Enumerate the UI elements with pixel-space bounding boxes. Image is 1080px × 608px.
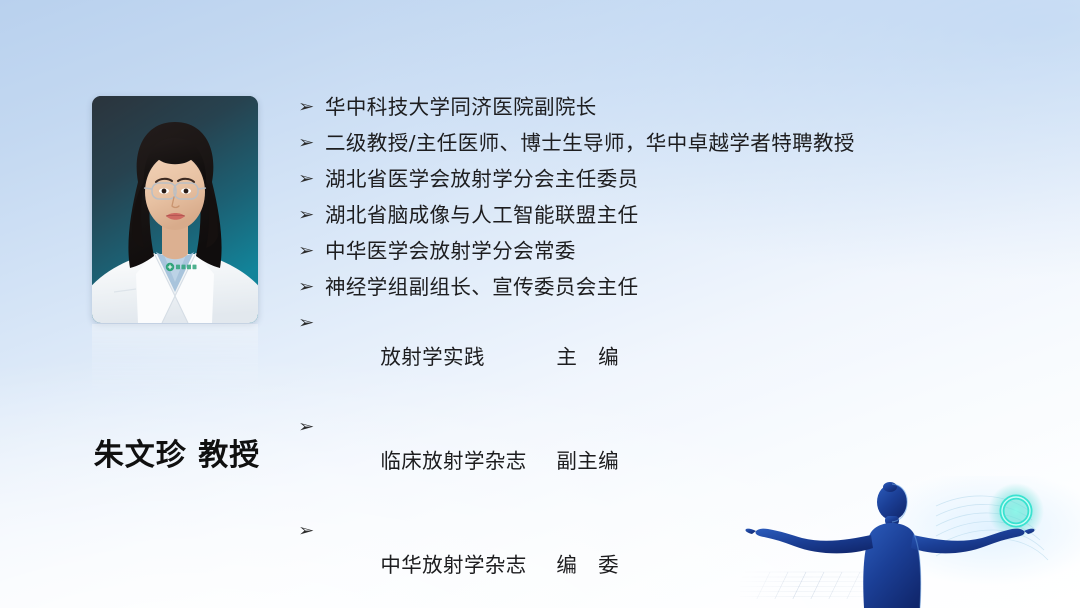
list-item: ➢ 湖北省脑成像与人工智能联盟主任 <box>298 198 1054 232</box>
credential-journal-row: 中华放射学杂志编 委 <box>325 514 1054 608</box>
arrow-bullet-icon: ➢ <box>298 162 329 196</box>
credential-journal-row: 临床放射学杂志副主编 <box>325 410 1054 512</box>
list-item: ➢ 放射学实践主 编 <box>298 306 1054 408</box>
arrow-bullet-icon: ➢ <box>298 410 329 444</box>
credentials-list: ➢ 华中科技大学同济医院副院长 ➢ 二级教授/主任医师、博士生导师，华中卓越学者… <box>298 90 1054 608</box>
credential-text: 中华医学会放射学分会常委 <box>325 234 1054 268</box>
arrow-bullet-icon: ➢ <box>298 126 329 160</box>
journal-role: 主 编 <box>556 340 619 374</box>
list-item: ➢ 中华放射学杂志编 委 <box>298 514 1054 608</box>
arrow-bullet-icon: ➢ <box>298 234 329 268</box>
arrow-bullet-icon: ➢ <box>298 270 329 304</box>
doctor-portrait-photo <box>92 96 258 323</box>
list-item: ➢ 中华医学会放射学分会常委 <box>298 234 1054 268</box>
list-item: ➢ 神经学组副组长、宣传委员会主任 <box>298 270 1054 304</box>
portrait-block: 朱文珍 教授 <box>92 96 258 396</box>
portrait-reflection <box>92 324 258 396</box>
journal-role: 副主编 <box>556 444 619 478</box>
slide-root: 朱文珍 教授 ➢ 华中科技大学同济医院副院长 ➢ 二级教授/主任医师、博士生导师… <box>0 0 1080 608</box>
list-item: ➢ 二级教授/主任医师、博士生导师，华中卓越学者特聘教授 <box>298 126 1054 160</box>
credential-journal-row: 放射学实践主 编 <box>325 306 1054 408</box>
arrow-bullet-icon: ➢ <box>298 514 329 548</box>
list-item: ➢ 临床放射学杂志副主编 <box>298 410 1054 512</box>
credential-text: 湖北省医学会放射学分会主任委员 <box>325 162 1054 196</box>
arrow-bullet-icon: ➢ <box>298 198 329 232</box>
credential-text: 湖北省脑成像与人工智能联盟主任 <box>325 198 1054 232</box>
doctor-name-label: 朱文珍 教授 <box>84 437 270 475</box>
arrow-bullet-icon: ➢ <box>298 90 329 124</box>
credential-text: 神经学组副组长、宣传委员会主任 <box>325 270 1054 304</box>
journal-title: 中华放射学杂志 <box>380 548 556 582</box>
list-item: ➢ 华中科技大学同济医院副院长 <box>298 90 1054 124</box>
journal-title: 放射学实践 <box>380 340 556 374</box>
list-item: ➢ 湖北省医学会放射学分会主任委员 <box>298 162 1054 196</box>
arrow-bullet-icon: ➢ <box>298 306 329 340</box>
journal-title: 临床放射学杂志 <box>380 444 556 478</box>
credential-text: 二级教授/主任医师、博士生导师，华中卓越学者特聘教授 <box>325 126 1054 160</box>
journal-role: 编 委 <box>556 548 619 582</box>
credential-text: 华中科技大学同济医院副院长 <box>325 90 1054 124</box>
